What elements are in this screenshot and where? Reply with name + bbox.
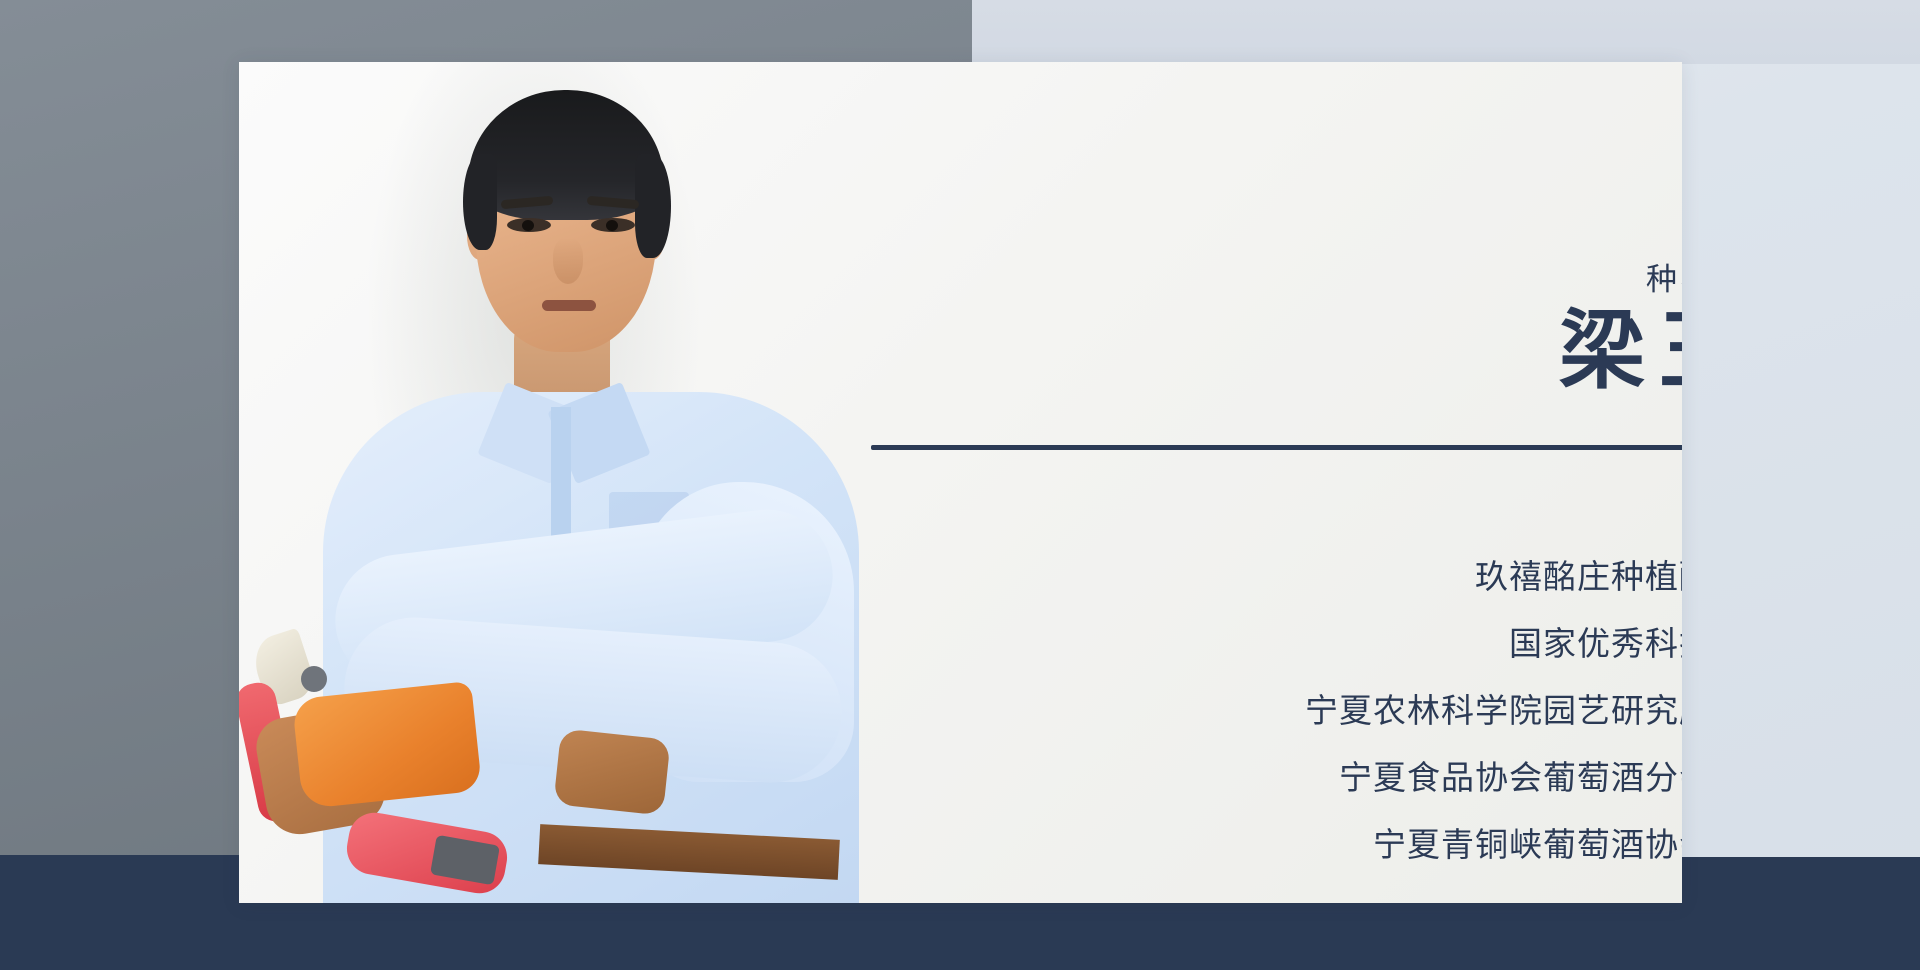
divider-line [871,445,1682,450]
portrait-mouth [542,300,596,311]
credential-label: 国家优秀科技特派员 [1509,617,1682,665]
pruning-shears-bolt [301,666,327,692]
portrait-glove-orange [292,681,483,809]
list-item: 国家优秀科技特派员 [1079,607,1682,674]
expert-portrait-photo [239,62,859,903]
credential-label: 宁夏青铜峡葡萄酒协会副会长 [1373,818,1682,866]
credential-label: 玖禧酩庄种植酿造专家 [1475,550,1682,598]
list-item: 玖禧酩庄种植酿造专家 [1079,540,1682,607]
expert-name: 梁玉文 [1239,308,1682,394]
profile-card: 种植酿造专家 梁玉文 玖禧酩庄种植酿造专家 国家优秀科技特派员 宁夏农林科学院园… [239,62,1682,903]
credential-label: 宁夏食品协会葡萄酒分会副会长 [1339,751,1682,799]
list-item: 宁夏青铜峡葡萄酒协会副会长 [1079,808,1682,875]
portrait-pupil-left [522,220,534,231]
portrait-nose [553,238,583,284]
list-item: 宁夏农林科学院园艺研究所研究员 [1079,674,1682,741]
poster-canvas: 种植酿造专家 梁玉文 玖禧酩庄种植酿造专家 国家优秀科技特派员 宁夏农林科学院园… [0,0,1920,970]
portrait-glove-right-hand [553,728,670,815]
credential-label: 宁夏农林科学院园艺研究所研究员 [1305,684,1682,732]
portrait-pupil-right [606,220,618,231]
expert-subtitle: 种植酿造专家 [1279,254,1682,299]
list-item: 宁夏食品协会葡萄酒分会副会长 [1079,741,1682,808]
portrait-hair-side-left [463,154,497,250]
credentials-list: 玖禧酩庄种植酿造专家 国家优秀科技特派员 宁夏农林科学院园艺研究所研究员 宁夏食… [1079,540,1682,875]
portrait-hair-side-right [635,154,671,258]
